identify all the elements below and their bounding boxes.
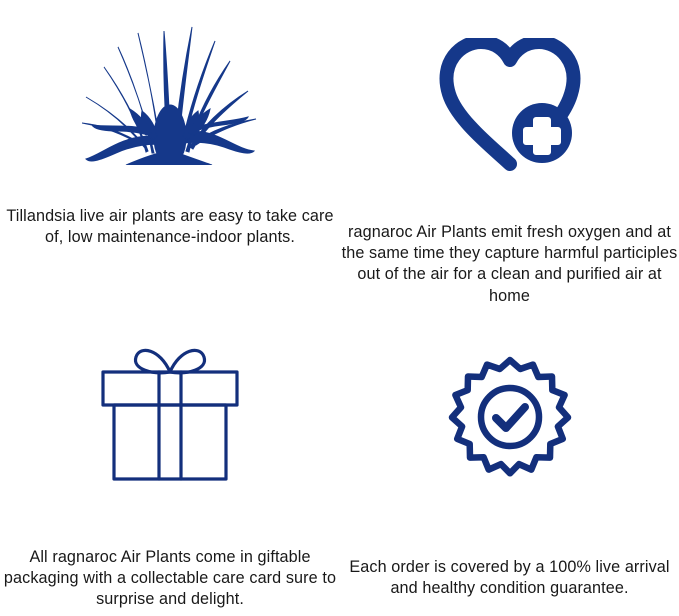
guarantee-seal-icon [340,308,679,508]
air-plant-icon [0,0,340,174]
feature-caption: All ragnaroc Air Plants come in giftable… [0,547,340,611]
feature-caption: ragnaroc Air Plants emit fresh oxygen an… [338,222,679,307]
feature-cell-heart-plus: ragnaroc Air Plants emit fresh oxygen an… [340,0,679,308]
feature-caption: Tillandsia live air plants are easy to t… [2,206,338,248]
feature-grid: Tillandsia live air plants are easy to t… [0,0,679,616]
heart-plus-icon [340,0,679,190]
feature-cell-gift-box: All ragnaroc Air Plants come in giftable… [0,308,340,616]
feature-cell-air-plant: Tillandsia live air plants are easy to t… [0,0,340,308]
gift-box-icon [0,308,340,498]
feature-cell-guarantee-seal: Each order is covered by a 100% live arr… [340,308,679,616]
feature-caption: Each order is covered by a 100% live arr… [338,557,679,599]
